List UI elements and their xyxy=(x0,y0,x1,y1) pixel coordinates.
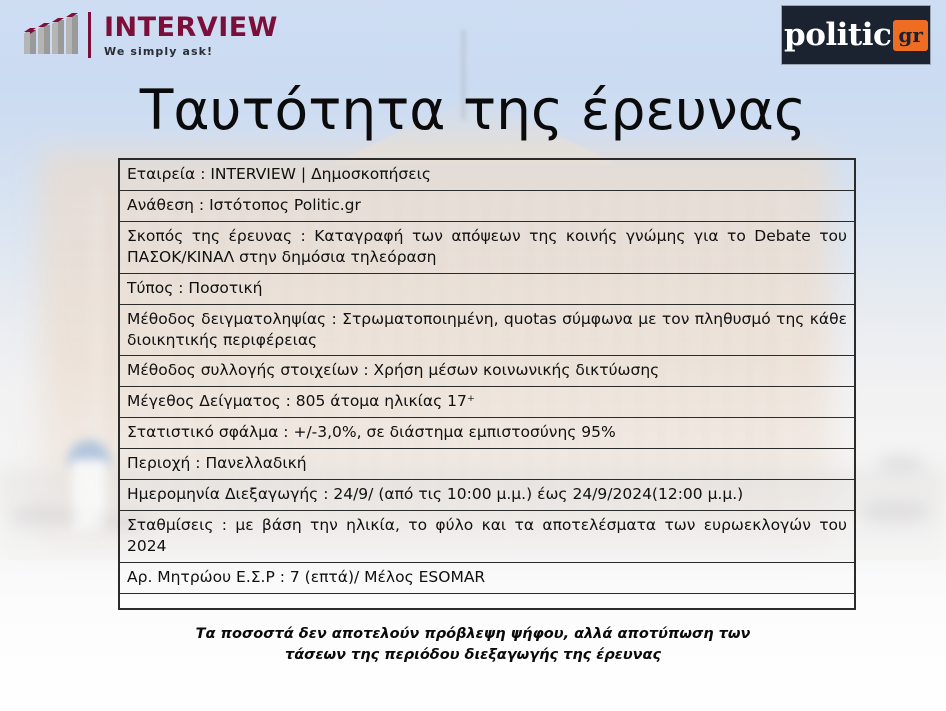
survey-identity-table: Εταιρεία : INTERVIEW | Δημοσκοπήσεις Ανά… xyxy=(118,158,856,610)
table-row: Μέθοδος συλλογής στοιχείων : Χρήση μέσων… xyxy=(119,356,855,387)
table-cell-registry-number: Αρ. Μητρώου Ε.Σ.Ρ : 7 (επτά)/ Μέλος ESOM… xyxy=(119,562,855,593)
table-row: Τύπος : Ποσοτική xyxy=(119,273,855,304)
logo-tagline: We simply ask! xyxy=(104,46,278,57)
table-cell-collection-method: Μέθοδος συλλογής στοιχείων : Χρήση μέσων… xyxy=(119,356,855,387)
table-cell-client: Ανάθεση : Ιστότοπος Politic.gr xyxy=(119,190,855,221)
footer-disclaimer: Τα ποσοστά δεν αποτελούν πρόβλεψη ψήφου,… xyxy=(0,624,946,665)
table-row: Ημερομηνία Διεξαγωγής : 24/9/ (από τις 1… xyxy=(119,480,855,511)
table-cell-weighting: Σταθμίσεις : με βάση την ηλικία, το φύλο… xyxy=(119,511,855,563)
slide-canvas: INTERVIEW We simply ask! politic gr Ταυτ… xyxy=(0,0,946,711)
table-row: Αρ. Μητρώου Ε.Σ.Ρ : 7 (επτά)/ Μέλος ESOM… xyxy=(119,562,855,593)
table-row: Σταθμίσεις : με βάση την ηλικία, το φύλο… xyxy=(119,511,855,563)
table-cell-empty xyxy=(119,593,855,609)
politic-gr-badge: gr xyxy=(893,20,928,51)
background-smudge xyxy=(10,505,80,527)
footer-line-1: Τα ποσοστά δεν αποτελούν πρόβλεψη ψήφου,… xyxy=(0,624,946,645)
logo-name: INTERVIEW xyxy=(104,14,278,41)
logo-divider xyxy=(88,12,91,58)
table-row: Στατιστικό σφάλμα : +/-3,0%, σε διάστημα… xyxy=(119,418,855,449)
interview-logo[interactable]: INTERVIEW We simply ask! xyxy=(22,9,278,61)
background-smudge xyxy=(860,500,930,524)
table-row: Ανάθεση : Ιστότοπος Politic.gr xyxy=(119,190,855,221)
politic-wordmark: politic xyxy=(784,20,891,51)
table-row: Εταιρεία : INTERVIEW | Δημοσκοπήσεις xyxy=(119,159,855,190)
logo-wordmark: INTERVIEW We simply ask! xyxy=(104,14,278,57)
table-cell-fieldwork-dates: Ημερομηνία Διεξαγωγής : 24/9/ (από τις 1… xyxy=(119,480,855,511)
footer-line-2: τάσεων της περιόδου διεξαγωγής της έρευν… xyxy=(0,645,946,666)
table-cell-purpose: Σκοπός της έρευνας : Καταγραφή των απόψε… xyxy=(119,221,855,273)
politic-gr-logo[interactable]: politic gr xyxy=(782,6,930,64)
table-row: Σκοπός της έρευνας : Καταγραφή των απόψε… xyxy=(119,221,855,273)
table-cell-type: Τύπος : Ποσοτική xyxy=(119,273,855,304)
bar-chart-3d-icon xyxy=(22,12,78,58)
table-row xyxy=(119,593,855,609)
table-row: Περιοχή : Πανελλαδική xyxy=(119,449,855,480)
table-cell-sample-size: Μέγεθος Δείγματος : 805 άτομα ηλικίας 17… xyxy=(119,387,855,418)
background-dome xyxy=(68,440,110,466)
table-cell-sampling-method: Μέθοδος δειγματοληψίας : Στρωματοποιημέν… xyxy=(119,304,855,356)
table-cell-company: Εταιρεία : INTERVIEW | Δημοσκοπήσεις xyxy=(119,159,855,190)
table-cell-margin-of-error: Στατιστικό σφάλμα : +/-3,0%, σε διάστημα… xyxy=(119,418,855,449)
table-cell-region: Περιοχή : Πανελλαδική xyxy=(119,449,855,480)
table-row: Μέγεθος Δείγματος : 805 άτομα ηλικίας 17… xyxy=(119,387,855,418)
table-row: Μέθοδος δειγματοληψίας : Στρωματοποιημέν… xyxy=(119,304,855,356)
background-smudge xyxy=(878,455,924,473)
page-title: Ταυτότητα της έρευνας xyxy=(0,82,946,140)
